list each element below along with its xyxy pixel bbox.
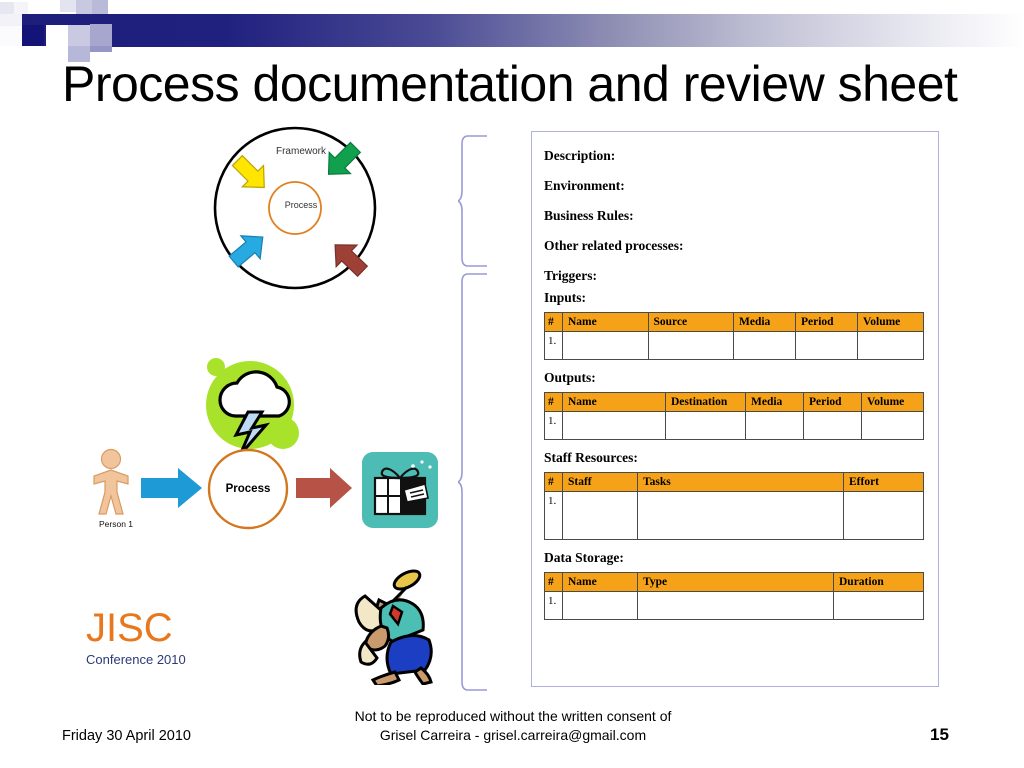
header-square xyxy=(0,26,22,46)
table-row[interactable]: 1. xyxy=(545,492,924,540)
cell-period[interactable] xyxy=(796,332,858,360)
person-icon xyxy=(94,450,128,515)
framework-label: Framework xyxy=(206,146,396,157)
col-header: Destination xyxy=(666,393,746,412)
output-arrow-icon xyxy=(296,468,352,508)
field-environment: Environment: xyxy=(544,178,924,194)
cell-effort[interactable] xyxy=(844,492,924,540)
header-square xyxy=(92,0,108,14)
table-header-row: # Name Type Duration xyxy=(545,573,924,592)
footer-copyright-notice: Not to be reproduced without the written… xyxy=(268,707,758,745)
col-header: # xyxy=(545,573,563,592)
cell-volume[interactable] xyxy=(858,332,924,360)
header-square xyxy=(0,14,22,26)
dancer-clipart xyxy=(345,560,455,685)
cell-staff[interactable] xyxy=(563,492,638,540)
notice-line-1: Not to be reproduced without the written… xyxy=(268,707,758,726)
field-triggers: Triggers: xyxy=(544,268,924,284)
col-header: Duration xyxy=(834,573,924,592)
header-square xyxy=(76,0,92,14)
cell-type[interactable] xyxy=(638,592,834,620)
cell-name[interactable] xyxy=(563,592,638,620)
table-header-row: # Name Destination Media Period Volume xyxy=(545,393,924,412)
col-header: Media xyxy=(746,393,804,412)
header-square-motif xyxy=(0,0,190,60)
bracket-top xyxy=(458,134,488,268)
notice-line-2: Grisel Carreira - grisel.carreira@gmail.… xyxy=(268,726,758,745)
col-header: Staff xyxy=(563,473,638,492)
field-business-rules: Business Rules: xyxy=(544,208,924,224)
row-number: 1. xyxy=(545,412,563,440)
dancer-svg xyxy=(345,560,455,685)
table-header-row: # Staff Tasks Effort xyxy=(545,473,924,492)
process-node-label: Process xyxy=(205,483,291,495)
cell-media[interactable] xyxy=(734,332,796,360)
page-title: Process documentation and review sheet xyxy=(62,54,962,114)
cell-source[interactable] xyxy=(648,332,734,360)
bracket-bottom xyxy=(458,272,488,692)
cell-tasks[interactable] xyxy=(638,492,844,540)
jisc-wordmark: JISC xyxy=(86,606,216,650)
col-header: Type xyxy=(638,573,834,592)
sheet-content: Description: Environment: Business Rules… xyxy=(532,132,938,640)
output-gift-icon xyxy=(362,452,438,528)
cell-name[interactable] xyxy=(563,412,666,440)
col-header: # xyxy=(545,393,563,412)
field-description: Description: xyxy=(544,148,924,164)
header-square xyxy=(44,0,60,12)
header-square xyxy=(68,25,90,46)
slide-page-number: 15 xyxy=(930,725,949,745)
footer-date: Friday 30 April 2010 xyxy=(62,728,191,744)
framework-process-label: Process xyxy=(206,200,396,210)
header-square xyxy=(60,0,76,12)
col-header: Name xyxy=(563,393,666,412)
header-square xyxy=(22,25,44,46)
brainstorm-cloud-icon xyxy=(206,358,299,455)
table-outputs: # Name Destination Media Period Volume 1… xyxy=(544,392,924,440)
caption-outputs: Outputs: xyxy=(544,370,924,386)
header-square xyxy=(46,25,68,46)
jisc-conference-label: Conference 2010 xyxy=(86,652,216,667)
col-header: # xyxy=(545,313,563,332)
table-row[interactable]: 1. xyxy=(545,592,924,620)
caption-inputs: Inputs: xyxy=(544,290,924,306)
header-square xyxy=(0,2,14,14)
cell-period[interactable] xyxy=(804,412,862,440)
process-documentation-sheet: Description: Environment: Business Rules… xyxy=(531,131,939,687)
field-other-related-processes: Other related processes: xyxy=(544,238,924,254)
input-arrow-icon xyxy=(141,468,202,508)
header-square xyxy=(14,2,28,14)
table-inputs: # Name Source Media Period Volume 1. xyxy=(544,312,924,360)
col-header: Source xyxy=(648,313,734,332)
table-header-row: # Name Source Media Period Volume xyxy=(545,313,924,332)
header-square xyxy=(90,46,112,52)
col-header: Name xyxy=(563,313,649,332)
header-square xyxy=(90,24,112,46)
col-header: Name xyxy=(563,573,638,592)
table-row[interactable]: 1. xyxy=(545,412,924,440)
cell-media[interactable] xyxy=(746,412,804,440)
caption-staff-resources: Staff Resources: xyxy=(544,450,924,466)
person-label: Person 1 xyxy=(86,519,146,529)
row-number: 1. xyxy=(545,332,563,360)
row-number: 1. xyxy=(545,592,563,620)
cell-volume[interactable] xyxy=(862,412,924,440)
header-square xyxy=(0,46,46,60)
col-header: # xyxy=(545,473,563,492)
table-staff-resources: # Staff Tasks Effort 1. xyxy=(544,472,924,540)
cell-name[interactable] xyxy=(563,332,649,360)
col-header: Effort xyxy=(844,473,924,492)
col-header: Tasks xyxy=(638,473,844,492)
framework-circle-diagram: Framework Process xyxy=(206,122,396,297)
col-header: Period xyxy=(796,313,858,332)
header-square xyxy=(30,0,44,12)
table-row[interactable]: 1. xyxy=(545,332,924,360)
cell-duration[interactable] xyxy=(834,592,924,620)
caption-data-storage: Data Storage: xyxy=(544,550,924,566)
table-data-storage: # Name Type Duration 1. xyxy=(544,572,924,620)
col-header: Volume xyxy=(858,313,924,332)
row-number: 1. xyxy=(545,492,563,540)
jisc-logo: JISC Conference 2010 xyxy=(86,606,216,667)
col-header: Period xyxy=(804,393,862,412)
col-header: Volume xyxy=(862,393,924,412)
cell-destination[interactable] xyxy=(666,412,746,440)
col-header: Media xyxy=(734,313,796,332)
